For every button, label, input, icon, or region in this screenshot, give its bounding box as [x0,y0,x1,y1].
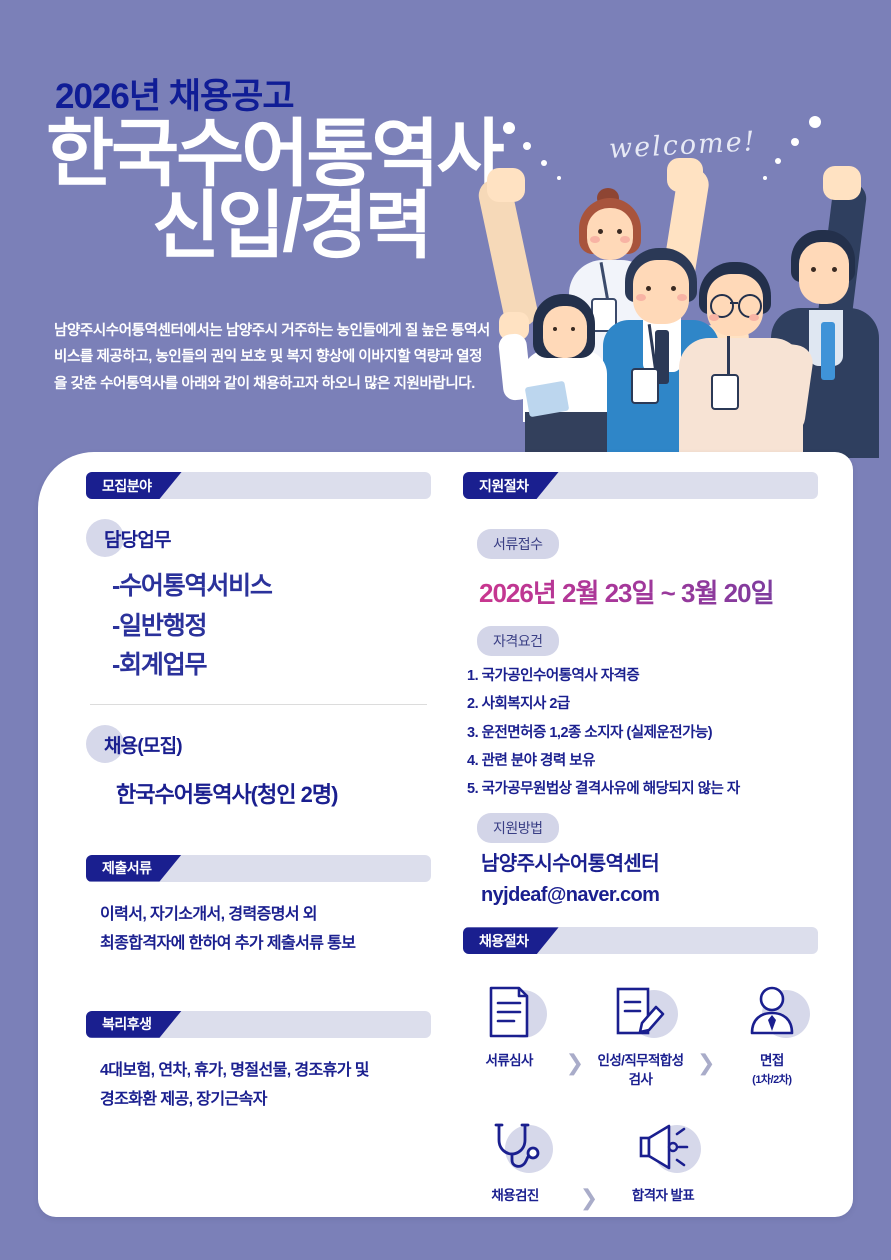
person-c-badge [631,368,659,404]
hero-title-line1: 한국수어통역사 [46,112,502,195]
person-b-fist-right [667,158,703,192]
person-f-eye [571,327,575,331]
person-d-cheek [749,314,759,321]
receipt-date: 2026년 2월 23일 ~ 3월 20일 [479,573,774,610]
process-step-4: 채용검진 [463,1111,567,1205]
list-item: 4. 관련 분야 경력 보유 [467,747,818,775]
hero-title: 한국수어통역사 신입/경력 [46,118,516,262]
process-step-label: 인성/직무적합성 검사 [594,1052,686,1088]
process-step-3: 면접 (1차/2차) [726,976,818,1086]
chevron-right-icon: ❯ [687,976,726,1076]
process-step-label: 서류심사 [463,1052,555,1070]
icon-wrap [463,1111,567,1183]
left-column: 모집분야 담당업무 -수어통역서비스 -일반행정 -회계업무 채용(모집) 한국… [86,472,431,1115]
poster-root: 2026년 채용공고 한국수어통역사 신입/경력 남양주시수어통역센터에서는 남… [0,0,891,1260]
document-icon [487,985,531,1039]
duties-list: -수어통역서비스 -일반행정 -회계업무 [112,567,431,686]
person-b-eye [617,229,622,234]
apply-org-name: 남양주시수어통역센터 [481,849,818,880]
list-item: 1. 국가공인수어통역사 자격증 [467,662,818,690]
hiring-heading-label: 채용(모집) [104,731,182,758]
person-d-lanyard [727,336,730,378]
list-item: 3. 운전면허증 1,2종 소지자 (실제운전가능) [467,719,818,747]
chevron-right-icon: ❯ [555,976,594,1076]
section-divider [90,704,427,705]
person-d-badge [711,374,739,410]
decor-dot [775,158,781,164]
list-item: 5. 국가공무원법상 결격사유에 해당되지 않는 자 [467,775,818,803]
process-step-5: 합격자 발표 [611,1111,715,1205]
duties-heading: 담당업무 [86,517,431,561]
section-header-process: 채용절차 [463,927,818,954]
list-item: 이력서, 자기소개서, 경력증명서 외 [100,900,431,930]
process-row-2: 채용검진 ❯ [463,1111,818,1211]
person-b-eye [598,229,603,234]
right-column: 지원절차 서류접수 2026년 2월 23일 ~ 3월 20일 자격요건 1. … [463,472,818,1233]
decor-dot [763,176,767,180]
list-item: -회계업무 [112,646,431,686]
person-c-eye [646,286,651,291]
hero-description: 남양주시수어통역센터에서는 남양주시 거주하는 농인들에게 질 높은 통역서비스… [54,318,494,397]
process-step-label: 면접 [726,1052,818,1070]
person-f-face [543,306,587,358]
decor-dot [523,142,531,150]
process-step-label: 채용검진 [463,1187,567,1205]
list-item: 최종합격자에 한하여 추가 제출서류 통보 [100,929,431,959]
apply-method-block: 남양주시수어통역센터 nyjdeaf@naver.com [481,849,818,911]
benefits-list: 4대보험, 연차, 휴가, 명절선물, 경조휴가 및 경조화환 제공, 장기근속… [100,1056,431,1115]
hero-title-line2: 신입/경력 [46,190,516,262]
process-steps: 서류심사 ❯ 인성/직무적합성 [463,976,818,1210]
icon-wrap [594,976,686,1048]
content-card: 모집분야 담당업무 -수어통역서비스 -일반행정 -회계업무 채용(모집) 한국… [38,452,853,1217]
document-pencil-icon [614,985,666,1039]
documents-list: 이력서, 자기소개서, 경력증명서 외 최종합격자에 한하여 추가 제출서류 통… [100,900,431,959]
person-tie-icon [746,985,798,1039]
process-step-1: 서류심사 [463,976,555,1070]
icon-wrap [463,976,555,1048]
hiring-value: 한국수어통역사(청인 2명) [116,777,431,809]
person-e-eye [832,267,837,272]
decor-dot [791,138,799,146]
list-item: 경조화환 제공, 장기근속자 [100,1085,431,1115]
person-e-face [799,242,849,304]
decor-dot [557,176,561,180]
badge-apply-method: 지원방법 [477,813,559,843]
person-c-eye [671,286,676,291]
person-b-cheek [620,236,630,243]
process-step-2: 인성/직무적합성 검사 [594,976,686,1088]
chevron-right-icon: ❯ [567,1111,611,1211]
section-header-documents: 제출서류 [86,855,431,882]
person-c-cheek [636,294,646,301]
list-item: 4대보험, 연차, 휴가, 명절선물, 경조휴가 및 [100,1056,431,1086]
person-c-cheek [677,294,687,301]
megaphone-icon [636,1120,690,1174]
duties-heading-label: 담당업무 [104,525,171,552]
person-fist-left [487,168,525,202]
badge-qualification: 자격요건 [477,626,559,656]
apply-email[interactable]: nyjdeaf@naver.com [481,880,818,911]
person-e-tie [821,322,835,380]
process-row-1: 서류심사 ❯ 인성/직무적합성 [463,976,818,1088]
icon-wrap [726,976,818,1048]
team-illustration: welcome! [491,112,891,460]
badge-document-receipt: 서류접수 [477,529,559,559]
list-item: -일반행정 [112,607,431,647]
section-header-apply: 지원절차 [463,472,818,499]
section-header-benefits: 복리후생 [86,1011,431,1038]
process-step-sublabel: (1차/2차) [726,1071,818,1087]
person-f-eye [553,327,557,331]
section-header-recruit-field: 모집분야 [86,472,431,499]
decor-dot [541,160,547,166]
person-d-cheek [709,314,719,321]
process-step-label: 합격자 발표 [611,1187,715,1205]
decor-dot [503,122,515,134]
qualification-list: 1. 국가공인수어통역사 자격증 2. 사회복지사 2급 3. 운전면허증 1,… [467,662,818,803]
icon-wrap [611,1111,715,1183]
list-item: -수어통역서비스 [112,567,431,607]
person-e-fist [823,166,861,200]
decor-dot [809,116,821,128]
person-d-glasses-bridge [730,302,738,304]
person-b-face [587,208,633,260]
hiring-heading: 채용(모집) [86,723,431,767]
list-item: 2. 사회복지사 2급 [467,690,818,718]
person-b-cheek [590,236,600,243]
person-e-eye [811,267,816,272]
person-c-face [633,260,689,324]
stethoscope-icon [489,1120,541,1174]
